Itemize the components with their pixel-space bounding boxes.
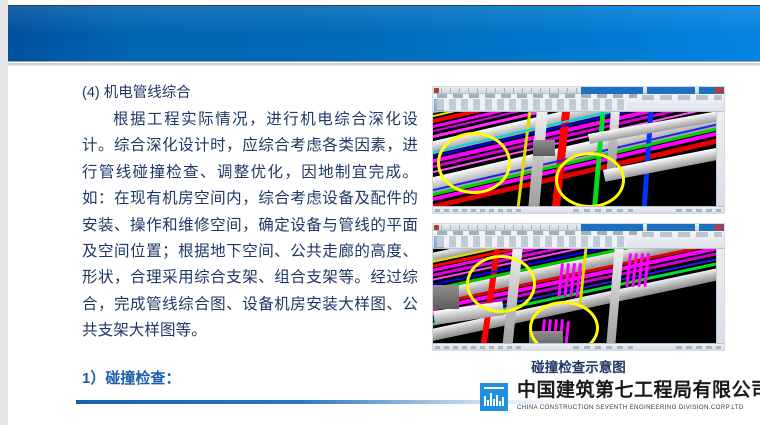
close-icon-2 (715, 225, 723, 230)
bim-right-panel (716, 112, 724, 206)
ribbon-right-controls-2 (642, 232, 722, 237)
statusbar-right-info (676, 209, 721, 212)
slide-header-band (8, 5, 760, 62)
ribbon-tab-row-2 (437, 231, 637, 235)
bim-app-titlebar-2 (433, 224, 724, 231)
statusbar-right-info-2 (676, 346, 721, 349)
statusbar-mid-info (573, 209, 633, 212)
bim-app-titlebar (433, 87, 724, 94)
figure-caption: 碰撞检查示意图 (432, 356, 725, 376)
figure-column (432, 86, 725, 351)
clash-marker-2 (555, 152, 625, 206)
company-name-text: 中国建筑第七工程局有限公司 CHINA CONSTRUCTION SEVENTH… (517, 381, 760, 413)
cscec-logo-icon (480, 383, 508, 411)
bim-app-statusbar (433, 206, 724, 213)
bim-app-statusbar-2 (433, 343, 724, 350)
clash-marker-3 (466, 255, 536, 313)
sub-heading-clash-check: 1）碰撞检查： (82, 367, 418, 391)
quick-access-toolbar-2 (441, 225, 581, 230)
bim-clash-screenshot-top (432, 86, 725, 214)
bim-3d-viewport-top (433, 112, 716, 206)
app-logo-icon (434, 88, 439, 93)
close-icon (715, 88, 723, 93)
statusbar-mid-info-2 (573, 346, 633, 349)
titlebar-tab-2 (647, 87, 695, 94)
quick-access-toolbar (441, 88, 581, 93)
statusbar-left-info-2 (435, 346, 525, 349)
bim-app-ribbon (433, 94, 724, 112)
slide-text-column: (4) 机电管线综合 根据工程实际情况，进行机电综合深化设计。综合深化设计时，应… (82, 80, 418, 391)
ribbon-icon-row (437, 99, 627, 110)
body-paragraph: 根据工程实际情况，进行机电综合深化设计。综合深化设计时，应综合考虑各类因素，进行… (82, 107, 418, 345)
presentation-slide: (4) 机电管线综合 根据工程实际情况，进行机电综合深化设计。综合深化设计时，应… (8, 0, 760, 425)
titlebar-active-tab-2 (581, 224, 643, 231)
app-logo-icon-2 (434, 225, 439, 230)
bim-app-ribbon-2 (433, 231, 724, 249)
company-name-cn: 中国建筑第七工程局有限公司 (517, 381, 760, 401)
bim-clash-screenshot-bottom (432, 223, 725, 351)
statusbar-left-info (435, 209, 525, 212)
bim-3d-viewport-bottom (433, 249, 716, 343)
bim-right-panel-2 (716, 249, 724, 343)
ribbon-icon-row-2 (437, 236, 627, 247)
clash-marker-1 (437, 132, 511, 194)
slide-left-margin (0, 0, 8, 425)
header-gloss-overlay (8, 6, 760, 34)
titlebar-active-tab (581, 87, 643, 94)
ribbon-tab-row (437, 94, 637, 98)
company-name-en: CHINA CONSTRUCTION SEVENTH ENGINEERING D… (517, 403, 760, 413)
section-label: (4) 机电管线综合 (82, 80, 418, 106)
titlebar-tab-2b (647, 224, 695, 231)
ribbon-right-controls (642, 95, 722, 100)
header-underline-divider (8, 63, 760, 66)
company-logo-block: 中国建筑第七工程局有限公司 CHINA CONSTRUCTION SEVENTH… (480, 381, 760, 413)
